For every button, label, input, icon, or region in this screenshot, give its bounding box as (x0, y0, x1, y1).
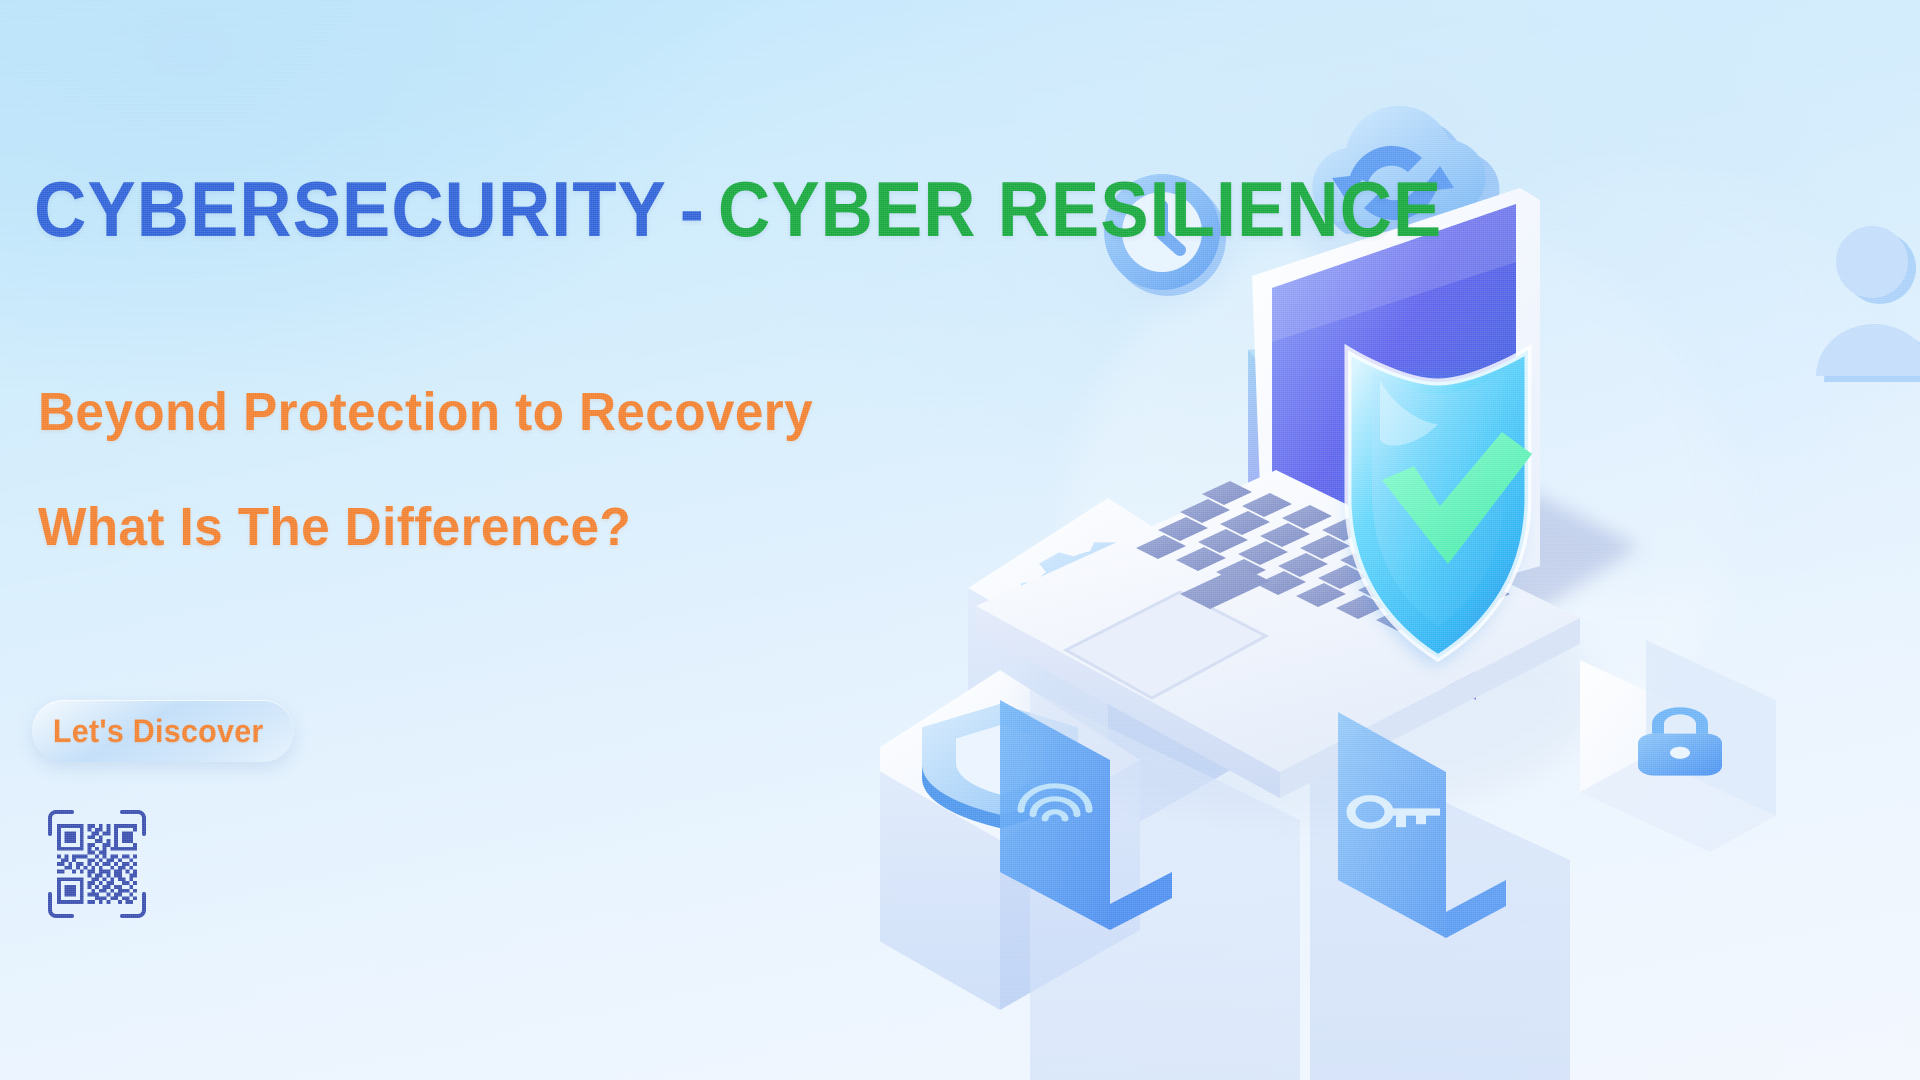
headline-separator: - (667, 165, 718, 253)
lets-discover-label: Let's Discover (32, 713, 264, 750)
subheadline-line-one: Beyond Protection to Recovery (38, 385, 813, 439)
page-title: CYBERSECURITY-CYBER RESILIENCE (34, 170, 1442, 248)
headline-part-one: CYBERSECURITY (34, 165, 667, 253)
subheadline-line-two: What Is The Difference? (38, 500, 631, 554)
lets-discover-button[interactable]: Let's Discover (32, 700, 294, 762)
banner-root: CYBERSECURITY-CYBER RESILIENCE Beyond Pr… (0, 0, 1920, 1080)
copy-column: CYBERSECURITY-CYBER RESILIENCE Beyond Pr… (0, 0, 1080, 1080)
qr-matrix (57, 822, 137, 906)
qr-code[interactable] (46, 808, 148, 920)
headline-part-two: CYBER RESILIENCE (718, 165, 1442, 253)
